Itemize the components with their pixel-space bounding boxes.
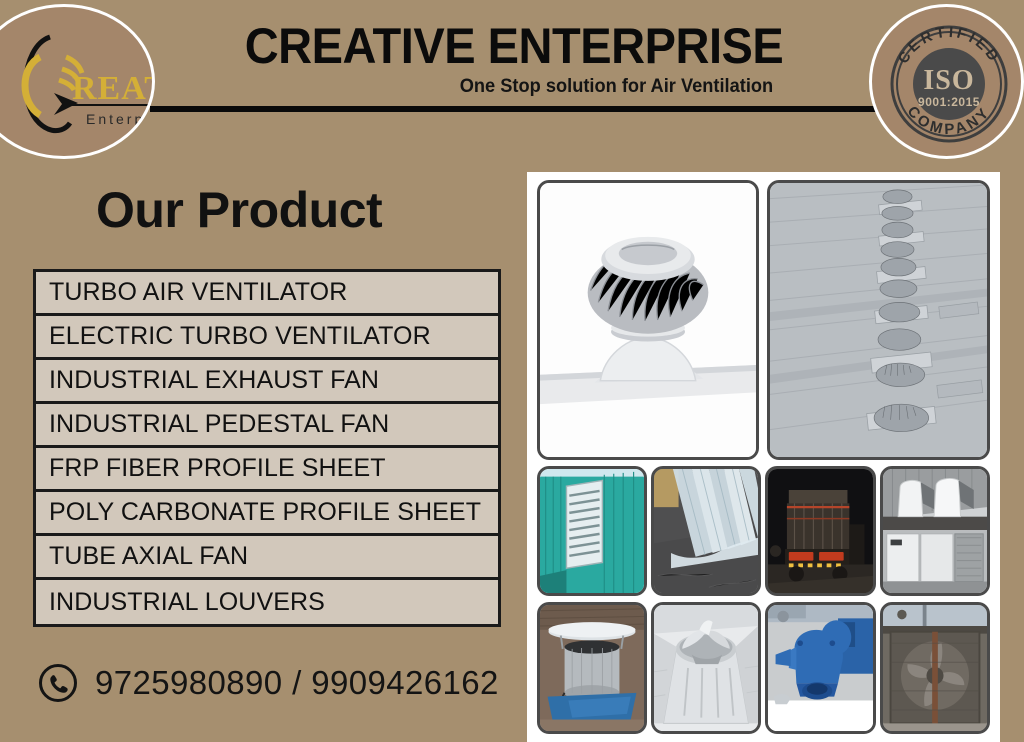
gallery-tile-electric-turbo-ventilator[interactable] xyxy=(537,602,647,734)
phone-icon xyxy=(38,663,78,703)
product-label: INDUSTRIAL EXHAUST FAN xyxy=(49,366,379,395)
product-list-item[interactable]: TUBE AXIAL FAN xyxy=(36,536,498,580)
phone-number: 9725980890 / 9909426162 xyxy=(95,664,499,702)
product-label: POLY CARBONATE PROFILE SHEET xyxy=(49,498,481,527)
product-list-item[interactable]: POLY CARBONATE PROFILE SHEET xyxy=(36,492,498,536)
iso-certification-badge: CERTIFIED COMPANY ISO 9001:2015 xyxy=(869,4,1024,159)
gallery-tile-roof-ventilator-row[interactable] xyxy=(767,180,990,460)
gallery-tile-blue-centrifugal-blower[interactable] xyxy=(765,602,876,734)
banner-header: REATIVE Enterprise CREATIVE ENTERPRISE O… xyxy=(0,0,1024,160)
contact-block[interactable]: 9725980890 / 9909426162 xyxy=(38,663,499,703)
product-list-item[interactable]: FRP FIBER PROFILE SHEET xyxy=(36,448,498,492)
product-list-item[interactable]: ELECTRIC TURBO VENTILATOR xyxy=(36,316,498,360)
product-label: INDUSTRIAL PEDESTAL FAN xyxy=(49,410,389,439)
header-text-block: CREATIVE ENTERPRISE One Stop solution fo… xyxy=(158,18,870,98)
gallery-tile-air-handling-units[interactable] xyxy=(880,466,990,596)
iso-seal-icon: CERTIFIED COMPANY ISO 9001:2015 xyxy=(882,17,1016,151)
product-list-item[interactable]: TURBO AIR VENTILATOR xyxy=(36,272,498,316)
company-logo-badge: REATIVE Enterprise xyxy=(0,4,155,159)
product-list: TURBO AIR VENTILATOR ELECTRIC TURBO VENT… xyxy=(33,269,501,627)
gallery-tile-turbo-air-ventilator-product[interactable] xyxy=(537,180,759,460)
gallery-tile-frp-profile-sheets[interactable] xyxy=(651,466,761,596)
product-gallery xyxy=(527,172,1000,742)
company-tagline: One Stop solution for Air Ventilation xyxy=(172,76,856,98)
product-banner: REATIVE Enterprise CREATIVE ENTERPRISE O… xyxy=(0,0,1024,742)
product-label: INDUSTRIAL LOUVERS xyxy=(49,588,325,617)
section-title: Our Product xyxy=(96,181,382,239)
gallery-tile-louvers-on-wall[interactable] xyxy=(537,466,647,596)
creative-logo-icon: REATIVE Enterprise xyxy=(4,29,155,141)
svg-text:REATIVE: REATIVE xyxy=(72,70,155,107)
gallery-tile-loaded-truck[interactable] xyxy=(765,466,876,596)
svg-text:ISO: ISO xyxy=(923,65,974,96)
svg-text:9001:2015: 9001:2015 xyxy=(918,95,980,109)
gallery-tile-industrial-exhaust-fan[interactable] xyxy=(880,602,990,734)
product-list-item[interactable]: INDUSTRIAL LOUVERS xyxy=(36,580,498,624)
product-list-column: Our Product TURBO AIR VENTILATOR ELECTRI… xyxy=(0,160,520,742)
header-divider xyxy=(150,106,880,112)
company-name: CREATIVE ENTERPRISE xyxy=(179,18,848,74)
product-label: ELECTRIC TURBO VENTILATOR xyxy=(49,322,431,351)
svg-text:Enterprise: Enterprise xyxy=(86,111,155,127)
product-list-item[interactable]: INDUSTRIAL EXHAUST FAN xyxy=(36,360,498,404)
gallery-tile-frp-ventilator-base[interactable] xyxy=(651,602,761,734)
product-list-item[interactable]: INDUSTRIAL PEDESTAL FAN xyxy=(36,404,498,448)
product-label: TUBE AXIAL FAN xyxy=(49,542,248,571)
product-label: TURBO AIR VENTILATOR xyxy=(49,278,347,307)
product-label: FRP FIBER PROFILE SHEET xyxy=(49,454,386,483)
